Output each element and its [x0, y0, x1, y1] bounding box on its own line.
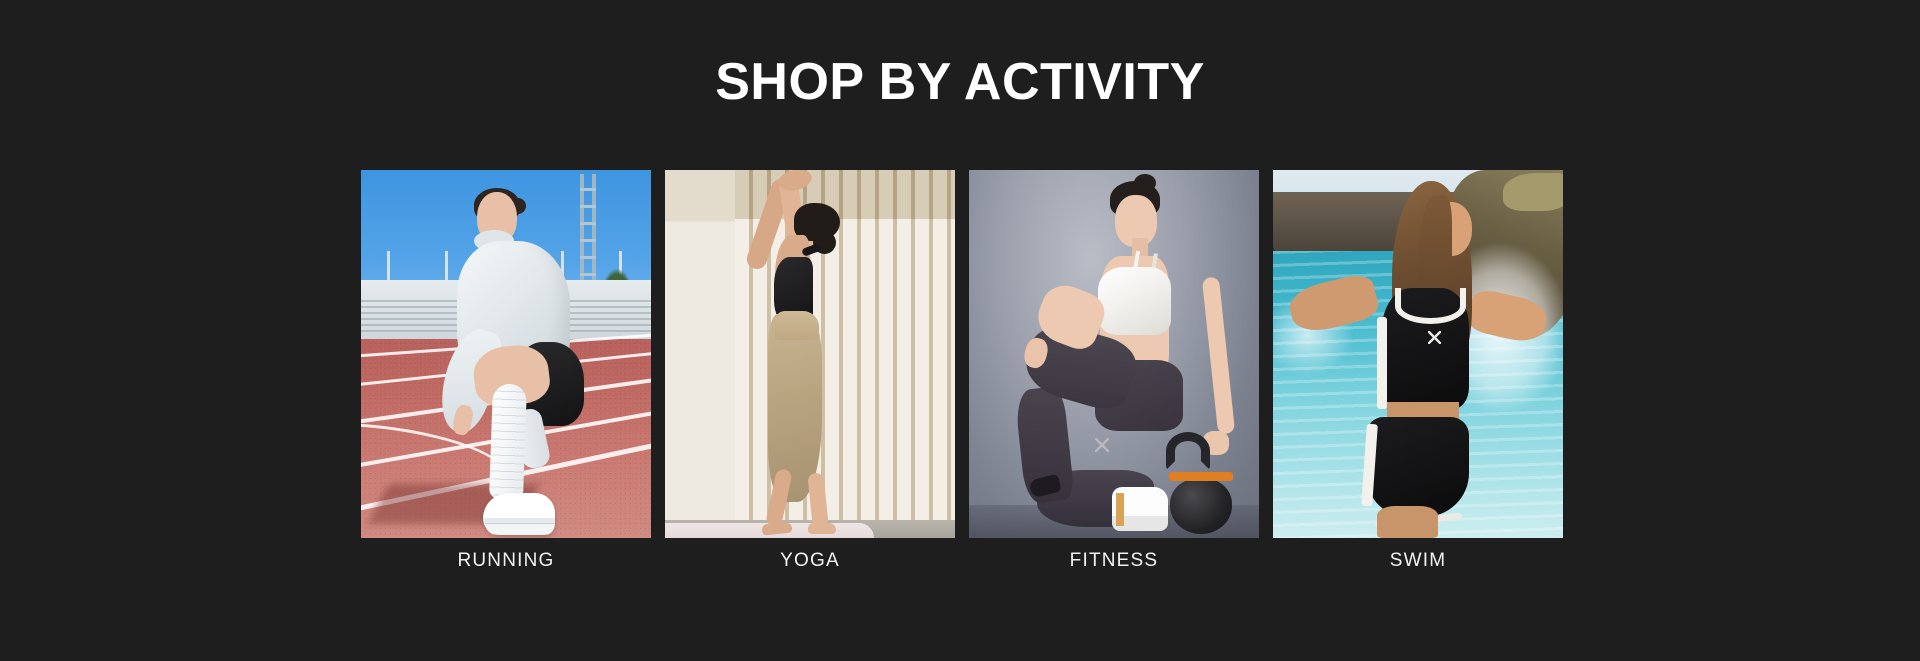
- swimmer-figure: [1290, 181, 1545, 538]
- running-image: [361, 170, 651, 538]
- back-leg: [807, 472, 829, 527]
- yoga-image: [665, 170, 955, 538]
- brand-x-logo-icon: [1428, 331, 1441, 344]
- activity-label-running: RUNNING: [361, 550, 651, 572]
- white-sports-bra: [1098, 267, 1171, 335]
- swim-image: [1273, 170, 1563, 538]
- white-side-stripe-top: [1377, 317, 1387, 410]
- back-foot: [808, 523, 836, 534]
- plain-wall-left: [665, 170, 735, 538]
- section-title: SHOP BY ACTIVITY: [0, 56, 1920, 108]
- white-sneaker: [1112, 487, 1168, 531]
- kettlebell: [1170, 478, 1232, 534]
- right-arm: [1202, 277, 1235, 435]
- brand-x-logo-icon: [1095, 438, 1109, 452]
- athlete-figure: [998, 181, 1242, 538]
- activity-card-fitness[interactable]: FITNESS: [969, 170, 1259, 538]
- fitness-image: [969, 170, 1259, 538]
- kettlebell-handle: [1166, 432, 1210, 470]
- activity-label-fitness: FITNESS: [969, 550, 1259, 572]
- yogi-figure: [752, 174, 868, 535]
- activity-card-grid: RUNNING: [361, 170, 1558, 538]
- thigh: [1377, 506, 1438, 538]
- activity-card-running[interactable]: RUNNING: [361, 170, 651, 538]
- activity-card-swim[interactable]: SWIM: [1273, 170, 1563, 538]
- black-swim-bottom: [1367, 417, 1469, 517]
- right-arm: [1465, 287, 1549, 346]
- left-arm: [1286, 271, 1381, 337]
- kettlebell-orange-band: [1169, 472, 1233, 481]
- activity-card-yoga[interactable]: YOGA: [665, 170, 955, 538]
- activity-label-swim: SWIM: [1273, 550, 1563, 572]
- runner-figure: [442, 188, 587, 538]
- white-neckline-trim: [1395, 288, 1466, 324]
- high-waistband: [775, 311, 819, 340]
- knee-high-sock: [489, 384, 527, 500]
- activity-label-yoga: YOGA: [665, 550, 955, 572]
- white-sneaker: [483, 493, 555, 535]
- front-foot: [762, 522, 793, 536]
- shop-by-activity-section: SHOP BY ACTIVITY: [0, 0, 1920, 661]
